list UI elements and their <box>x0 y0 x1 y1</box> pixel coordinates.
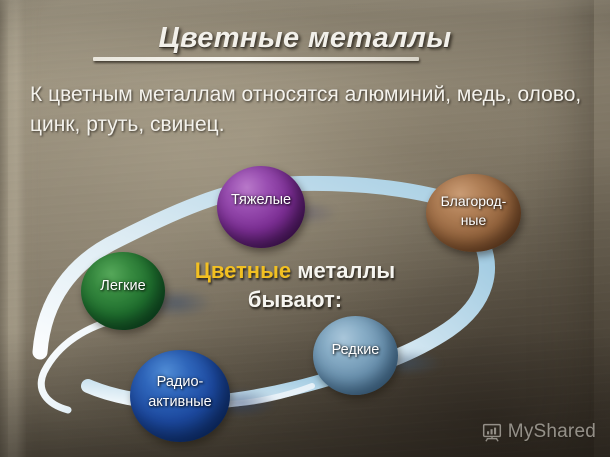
myshared-watermark: MyShared <box>481 421 596 443</box>
node-rare-metals[interactable]: Редкие <box>313 316 398 395</box>
sphere-rare <box>313 316 398 395</box>
caption-highlight-word: Цветные <box>195 258 291 283</box>
sphere-light <box>81 252 165 330</box>
center-caption: Цветные металлы бывают: <box>165 256 425 314</box>
sphere-radioactive <box>130 350 230 442</box>
watermark-text: MyShared <box>508 421 596 443</box>
node-noble-metals[interactable]: Благород- ные <box>426 174 521 252</box>
node-heavy-metals[interactable]: Тяжелые <box>217 166 305 248</box>
node-light-metals[interactable]: Легкие <box>81 252 165 330</box>
sphere-noble <box>426 174 521 252</box>
slide-canvas: Цветные металлы К цветным металлам относ… <box>0 0 610 457</box>
node-radioactive-metals[interactable]: Радио- активные <box>130 350 230 442</box>
caption-line2: бывают: <box>248 287 342 312</box>
presentation-chart-icon <box>481 422 503 443</box>
caption-rest-line1: металлы <box>291 258 395 283</box>
sphere-heavy <box>217 166 305 248</box>
